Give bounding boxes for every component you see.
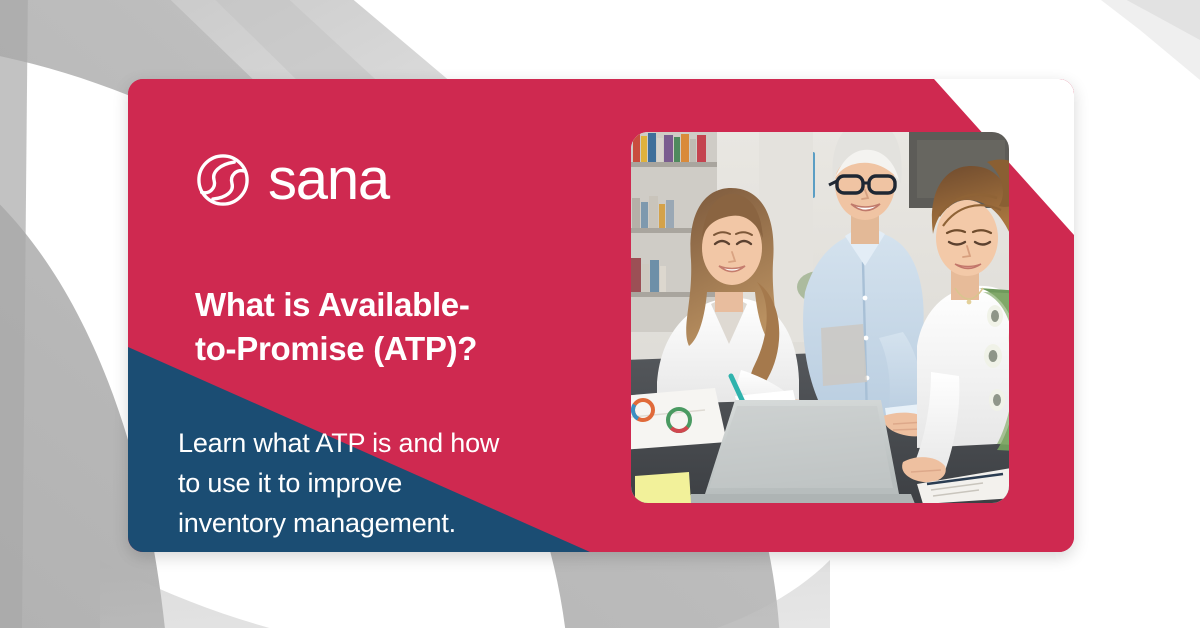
hero-card: sana What is Available- to-Promise (ATP)… [128,79,1074,552]
brand-wordmark: sana [268,151,389,209]
subtitle-text: Learn what ATP is and how to use it to i… [178,424,603,544]
page-title: What is Available- to-Promise (ATP)? [195,283,615,370]
sticky-note [635,472,691,503]
social-share-card-canvas: sana What is Available- to-Promise (ATP)… [0,0,1200,628]
brand-logo-lockup: sana [195,151,389,209]
hero-photo [631,132,1009,503]
hero-photo-illustration [631,132,1009,503]
sana-globe-s-icon [195,152,251,208]
